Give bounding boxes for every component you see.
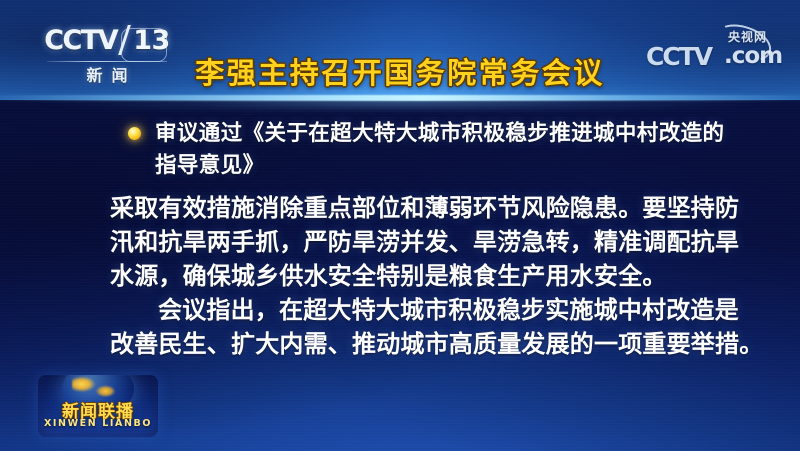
broadcast-screen: CCTV 13 新闻 CCTV 央视网 .com 李强主持召开国务院常务会议 审… [0,0,800,451]
scanline-overlay [0,0,800,451]
